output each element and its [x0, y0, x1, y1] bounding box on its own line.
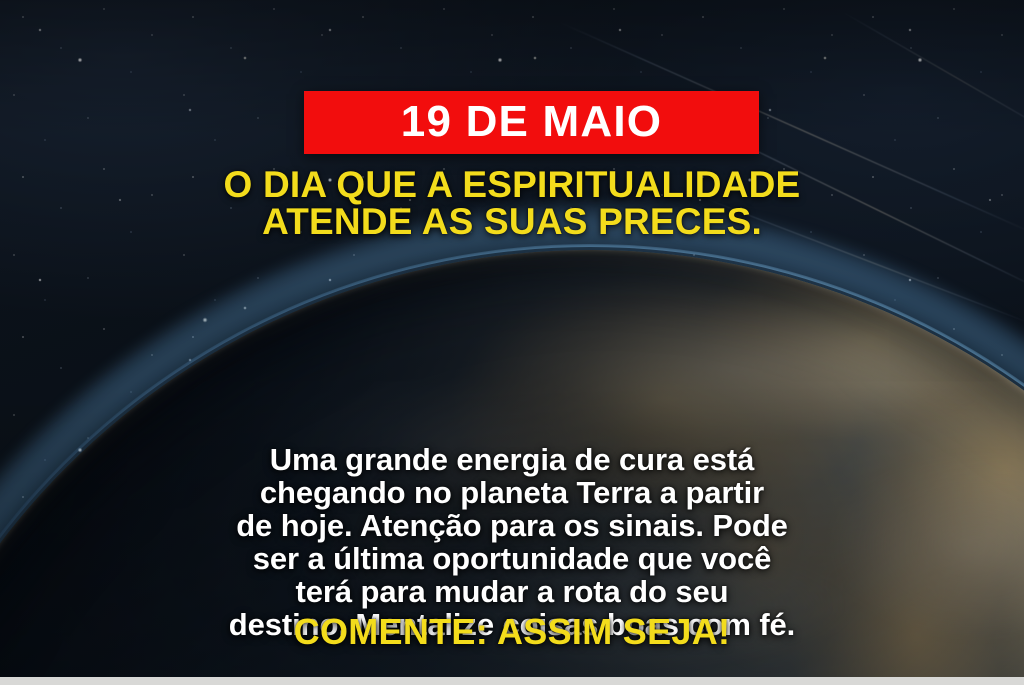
poster-canvas: 19 DE MAIO O DIA QUE A ESPIRITUALIDADE A… — [0, 0, 1024, 685]
body-line-1: Uma grande energia de cura está — [0, 443, 1024, 476]
body-line-3: de hoje. Atenção para os sinais. Pode — [0, 509, 1024, 542]
date-banner-label: 19 DE MAIO — [401, 100, 662, 144]
call-to-action-text: COMENTE: ASSIM SEJA! — [0, 613, 1024, 651]
headline-line-2: ATENDE AS SUAS PRECES. — [0, 203, 1024, 240]
body-line-4: ser a última oportunidade que você — [0, 542, 1024, 575]
headline-line-1: O DIA QUE A ESPIRITUALIDADE — [0, 166, 1024, 203]
date-banner: 19 DE MAIO — [304, 91, 759, 154]
headline: O DIA QUE A ESPIRITUALIDADE ATENDE AS SU… — [0, 166, 1024, 240]
body-line-5: terá para mudar a rota do seu — [0, 575, 1024, 608]
poster-content: 19 DE MAIO O DIA QUE A ESPIRITUALIDADE A… — [0, 0, 1024, 685]
bottom-edge-strip — [0, 677, 1024, 685]
body-line-2: chegando no planeta Terra a partir — [0, 476, 1024, 509]
